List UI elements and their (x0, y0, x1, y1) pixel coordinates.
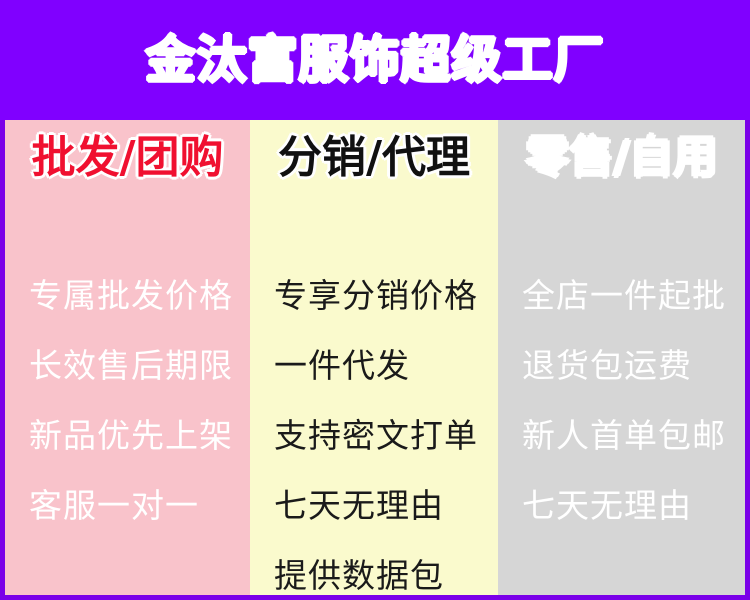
benefit-list-wholesale: 专属批发价格 长效售后期限 新品优先上架 客服一对一 (5, 260, 250, 540)
column-header-retail: 零售/自用 (525, 136, 717, 180)
tier-columns: 批发/团购 专属批发价格 长效售后期限 新品优先上架 客服一对一 分销/代理 专… (5, 120, 745, 595)
column-wholesale: 批发/团购 专属批发价格 长效售后期限 新品优先上架 客服一对一 (5, 120, 250, 595)
frame-edge-right (745, 120, 750, 600)
benefit-list-distribution: 专享分销价格 一件代发 支持密文打单 七天无理由 提供数据包 (250, 260, 498, 595)
column-retail: 零售/自用 全店一件起批 退货包运费 新人首单包邮 七天无理由 (498, 120, 745, 595)
list-item: 新品优先上架 (5, 400, 250, 470)
list-item: 七天无理由 (250, 470, 498, 540)
column-header-distribution: 分销/代理 (278, 136, 470, 180)
list-item: 新人首单包邮 (498, 400, 745, 470)
list-item: 提供数据包 (250, 540, 498, 595)
list-item: 长效售后期限 (5, 330, 250, 400)
list-item: 支持密文打单 (250, 400, 498, 470)
frame-edge-left (0, 120, 5, 600)
list-item: 客服一对一 (5, 470, 250, 540)
header-banner: 金汰富服饰超级工厂 (0, 0, 750, 120)
list-item: 一件代发 (250, 330, 498, 400)
column-header-wholesale: 批发/团购 (31, 136, 223, 180)
column-distribution: 分销/代理 专享分销价格 一件代发 支持密文打单 七天无理由 提供数据包 (250, 120, 498, 595)
frame-edge-bottom (0, 595, 750, 600)
page-title: 金汰富服饰超级工厂 (146, 35, 605, 85)
list-item: 专享分销价格 (250, 260, 498, 330)
list-item: 全店一件起批 (498, 260, 745, 330)
list-item: 退货包运费 (498, 330, 745, 400)
list-item: 专属批发价格 (5, 260, 250, 330)
benefit-list-retail: 全店一件起批 退货包运费 新人首单包邮 七天无理由 (498, 260, 745, 540)
promo-poster: 金汰富服饰超级工厂 批发/团购 专属批发价格 长效售后期限 新品优先上架 客服一… (0, 0, 750, 600)
list-item: 七天无理由 (498, 470, 745, 540)
